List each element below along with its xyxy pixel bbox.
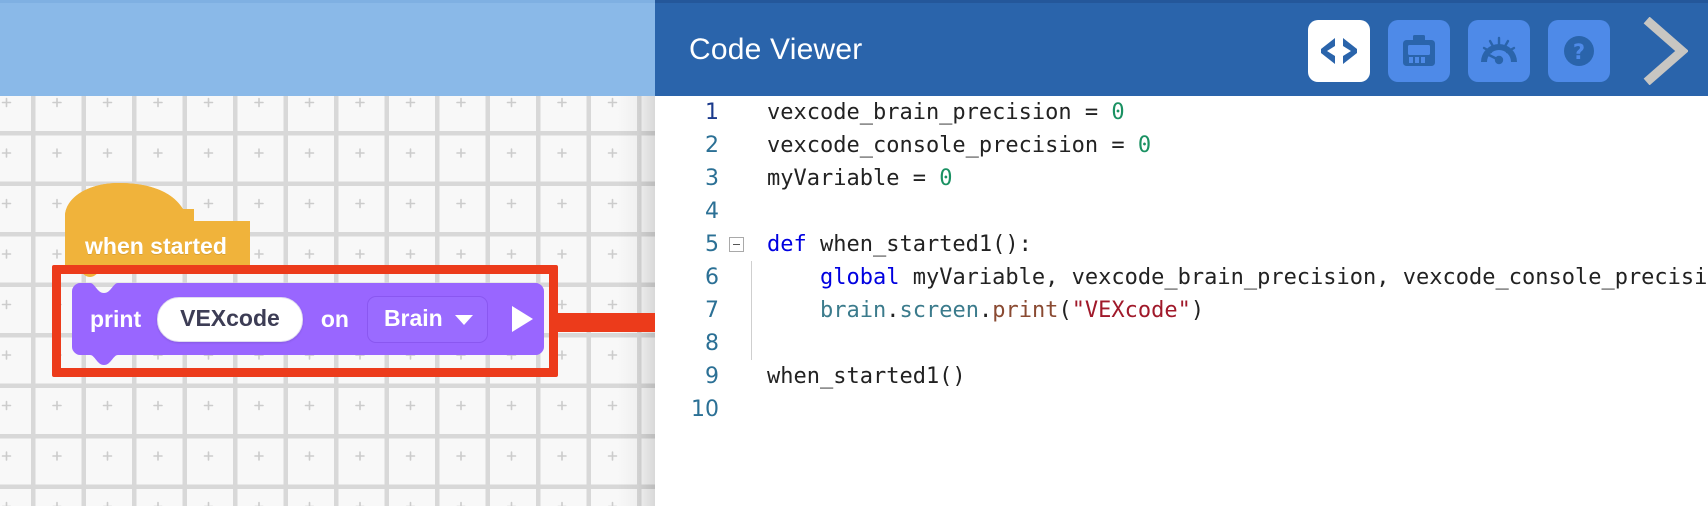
code-viewer-header: Code Viewer: [655, 0, 1708, 96]
blocks-workspace-panel: when started print VEXcode on Brain: [0, 0, 655, 506]
indent-guide: [751, 327, 752, 360]
code-line[interactable]: 7 brain.screen.print("VEXcode"): [655, 294, 1708, 327]
code-token: def: [767, 232, 820, 257]
code-token: brain: [820, 298, 886, 323]
line-number: 8: [655, 331, 723, 356]
app-root: when started print VEXcode on Brain: [0, 0, 1708, 506]
code-lines-container: 1vexcode_brain_precision = 02vexcode_con…: [655, 96, 1708, 426]
code-token: (: [1058, 298, 1071, 323]
code-editor[interactable]: 1vexcode_brain_precision = 02vexcode_con…: [655, 96, 1708, 506]
code-token: vexcode_brain_precision =: [767, 100, 1111, 125]
code-token: .: [979, 298, 992, 323]
code-text: vexcode_brain_precision = 0: [749, 100, 1125, 125]
code-text: myVariable = 0: [749, 166, 952, 191]
block-when-started-label: when started: [85, 233, 227, 260]
line-number: 2: [655, 133, 723, 158]
line-number: 5: [655, 232, 723, 257]
code-text: vexcode_console_precision = 0: [749, 133, 1151, 158]
indent-guide: [751, 294, 752, 327]
line-number: 7: [655, 298, 723, 323]
code-brackets-icon[interactable]: [1308, 20, 1370, 82]
annotation-highlight-box: [52, 265, 558, 377]
code-viewer-panel: Code Viewer: [655, 0, 1708, 506]
code-token: myVariable =: [767, 166, 939, 191]
code-token: screen: [899, 298, 978, 323]
chevron-right-icon[interactable]: [1634, 16, 1696, 86]
help-question-icon[interactable]: ?: [1548, 20, 1610, 82]
code-line[interactable]: 9when_started1(): [655, 360, 1708, 393]
code-viewer-toolbar: ?: [1308, 3, 1696, 99]
code-token: when_started1(): [767, 364, 966, 389]
code-text: global myVariable, vexcode_brain_precisi…: [749, 265, 1708, 290]
code-token: print: [992, 298, 1058, 323]
code-token: .: [886, 298, 899, 323]
indent-guide: [751, 261, 752, 294]
dashboard-gauge-icon[interactable]: [1468, 20, 1530, 82]
blocks-toolbar: [0, 0, 655, 96]
code-line[interactable]: 3myVariable = 0: [655, 162, 1708, 195]
code-line[interactable]: 5def when_started1():: [655, 228, 1708, 261]
brain-monitor-icon[interactable]: [1388, 20, 1450, 82]
fold-collapse-icon[interactable]: [723, 237, 749, 252]
line-number: 4: [655, 199, 723, 224]
code-token: "VEXcode": [1072, 298, 1191, 323]
code-token: global: [820, 265, 913, 290]
code-token: 0: [1111, 100, 1124, 125]
code-text: def when_started1():: [749, 232, 1032, 257]
code-token: [767, 265, 820, 290]
line-number: 3: [655, 166, 723, 191]
code-token: 0: [939, 166, 952, 191]
code-line[interactable]: 1vexcode_brain_precision = 0: [655, 96, 1708, 129]
code-token: myVariable, vexcode_brain_precision, vex…: [913, 265, 1708, 290]
code-text: when_started1(): [749, 364, 966, 389]
line-number: 9: [655, 364, 723, 389]
code-line[interactable]: 10: [655, 393, 1708, 426]
code-text: brain.screen.print("VEXcode"): [749, 298, 1204, 323]
line-number: 10: [655, 397, 723, 422]
code-token: ): [1191, 298, 1204, 323]
code-line[interactable]: 6 global myVariable, vexcode_brain_preci…: [655, 261, 1708, 294]
code-viewer-title: Code Viewer: [689, 33, 862, 67]
code-line[interactable]: 4: [655, 195, 1708, 228]
line-number: 1: [655, 100, 723, 125]
code-token: when_started1():: [820, 232, 1032, 257]
code-line[interactable]: 8: [655, 327, 1708, 360]
code-token: vexcode_console_precision =: [767, 133, 1138, 158]
line-number: 6: [655, 265, 723, 290]
code-token: 0: [1138, 133, 1151, 158]
svg-text:?: ?: [1573, 40, 1585, 64]
code-line[interactable]: 2vexcode_console_precision = 0: [655, 129, 1708, 162]
code-token: [767, 298, 820, 323]
